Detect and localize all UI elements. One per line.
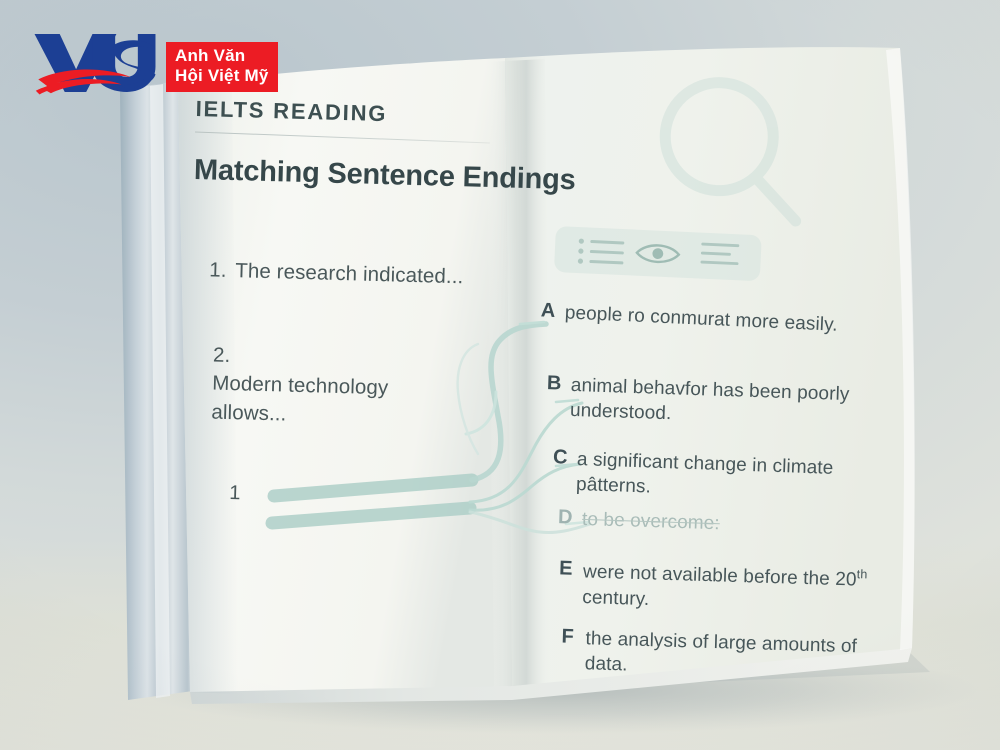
question-item: 2.Modern technology allows... bbox=[211, 342, 463, 434]
tagline-line-2: Hội Việt Mỹ bbox=[175, 66, 269, 86]
left-page-content: IELTS READING Matching Sentence Endings … bbox=[194, 96, 526, 196]
option-text: were not available before the 20th centu… bbox=[582, 558, 891, 619]
option-item[interactable]: D to be overcome: bbox=[558, 506, 720, 537]
tagline-line-1: Anh Văn bbox=[175, 46, 269, 66]
vus-tagline: Anh Văn Hội Việt Mỹ bbox=[166, 42, 278, 92]
option-letter: D bbox=[558, 506, 574, 529]
answer-row-label: 1 bbox=[229, 482, 241, 505]
right-page-toolbar bbox=[554, 226, 762, 281]
option-letter: B bbox=[546, 372, 562, 395]
option-item[interactable]: E were not available before the 20th cen… bbox=[558, 557, 891, 619]
vus-logo: Anh Văn Hội Việt Mỹ bbox=[32, 30, 278, 96]
question-text: Modern technology allows... bbox=[211, 370, 462, 433]
open-book: IELTS READING Matching Sentence Endings … bbox=[0, 0, 1000, 750]
scene: IELTS READING Matching Sentence Endings … bbox=[0, 0, 1000, 750]
vus-logomark-icon bbox=[32, 30, 158, 96]
header-rule bbox=[195, 131, 490, 143]
question-text: The research indicated... bbox=[235, 259, 464, 288]
option-text: to be overcome: bbox=[582, 507, 720, 537]
option-item[interactable]: F the analysis of large amounts of data. bbox=[560, 626, 887, 687]
option-letter: A bbox=[540, 299, 556, 323]
question-number: 1. bbox=[209, 256, 236, 285]
option-letter: C bbox=[553, 446, 569, 470]
option-letter: F bbox=[561, 626, 577, 649]
option-letter: E bbox=[559, 557, 575, 580]
option-text: the analysis of large amounts of data. bbox=[584, 626, 887, 686]
question-number: 2. bbox=[213, 342, 240, 371]
option-text: animal behavfor has been poorly understo… bbox=[570, 373, 902, 435]
